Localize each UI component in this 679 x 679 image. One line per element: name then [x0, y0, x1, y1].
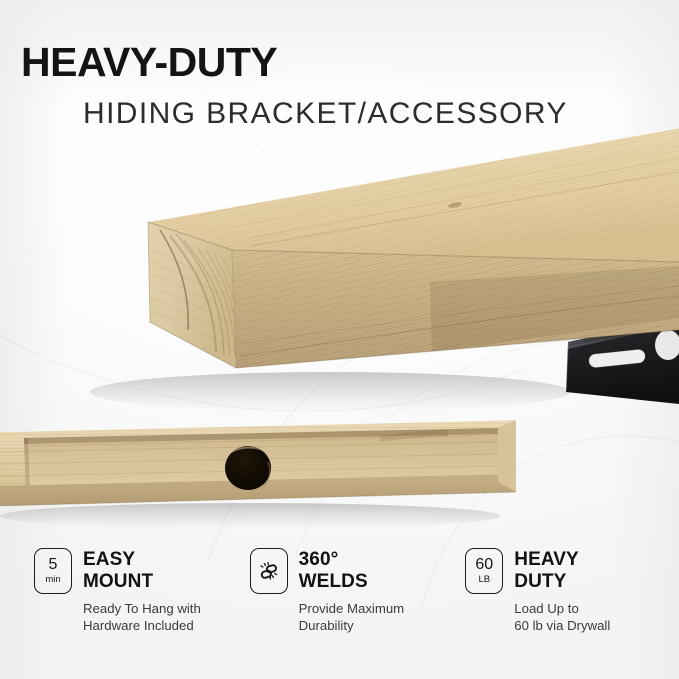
feature-desc-line-2: Durability [299, 618, 466, 635]
badge-unit: LB [478, 574, 490, 586]
badge-unit: min [45, 574, 60, 586]
feature-heading: 5 min EASY MOUNT [34, 548, 250, 594]
badge-value: 60 [475, 557, 493, 573]
feature-title: EASY MOUNT [83, 548, 153, 593]
feature-heading: 360° WELDS [250, 548, 466, 594]
feature-description: Ready To Hang with Hardware Included [83, 601, 250, 634]
feature-title: 360° WELDS [299, 548, 368, 593]
feature-desc-line-2: 60 lb via Drywall [514, 618, 679, 635]
board-shadow [90, 372, 570, 412]
feature-desc-line-1: Ready To Hang with [83, 601, 250, 618]
feature-title-line-2: MOUNT [83, 571, 153, 593]
chain-weld-icon [257, 559, 281, 583]
shelf-board-bottom [0, 415, 530, 515]
badge-5-min: 5 min [34, 548, 72, 594]
bracket-hole [225, 446, 271, 490]
feature-desc-line-2: Hardware Included [83, 618, 250, 635]
page-title: HEAVY-DUTY [21, 40, 277, 84]
feature-heading: 60 LB HEAVY DUTY [465, 548, 679, 594]
feature-title: HEAVY DUTY [514, 548, 579, 593]
badge-value: 5 [49, 557, 58, 573]
feature-desc-line-1: Provide Maximum [299, 601, 466, 618]
feature-desc-line-1: Load Up to [514, 601, 679, 618]
feature-title-line-2: WELDS [299, 571, 368, 593]
feature-description: Provide Maximum Durability [299, 601, 466, 634]
product-infographic: HEAVY-DUTY HIDING BRACKET/ACCESSORY 5 mi… [0, 0, 679, 679]
feature-easy-mount: 5 min EASY MOUNT Ready To Hang with Hard… [34, 548, 250, 668]
feature-title-line-2: DUTY [514, 571, 579, 593]
page-subtitle: HIDING BRACKET/ACCESSORY [83, 97, 568, 131]
feature-row: 5 min EASY MOUNT Ready To Hang with Hard… [0, 548, 679, 668]
feature-heavy-duty: 60 LB HEAVY DUTY Load Up to 60 lb via Dr… [465, 548, 679, 668]
feature-360-welds: 360° WELDS Provide Maximum Durability [250, 548, 466, 668]
feature-title-line-1: 360° [299, 549, 368, 571]
badge-60-lb: 60 LB [465, 548, 503, 594]
feature-title-line-1: HEAVY [514, 549, 579, 571]
lower-board-shadow [0, 503, 500, 529]
feature-description: Load Up to 60 lb via Drywall [514, 601, 679, 634]
feature-title-line-1: EASY [83, 549, 153, 571]
badge-chain-weld [250, 548, 288, 594]
